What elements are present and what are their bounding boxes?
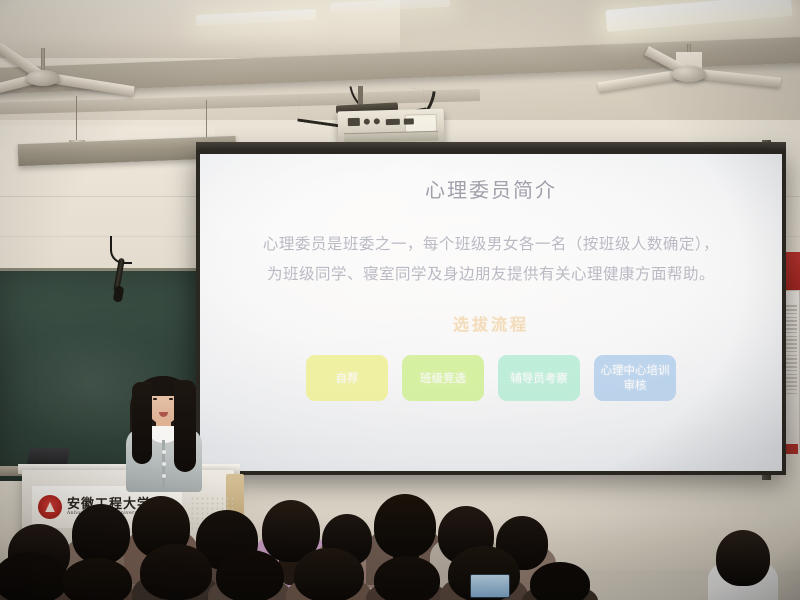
audience-head [530,562,590,600]
fan-hub [26,70,60,86]
audience-head [62,558,132,600]
audience-head [374,494,436,558]
process-step: 自荐 [306,355,388,401]
slide-body-line: 为班级同学、寝室同学及身边朋友提供有关心理健康方面帮助。 [229,259,753,289]
process-step: 心理中心培训审核 [594,355,676,401]
audience-head [0,552,68,600]
presenter [118,370,210,500]
audience-head [716,530,770,586]
slide-body-line: 心理委员是班委之一，每个班级男女各一名（按班级人数确定）， [229,229,753,259]
ceiling-fan-icon [604,44,774,104]
projection-screen: 心理委员简介 心理委员是班委之一，每个班级男女各一名（按班级人数确定）， 为班级… [196,150,786,475]
selection-process-steps: 自荐 班级竞选 辅导员考察 心理中心培训审核 [200,355,782,401]
slide-title: 心理委员简介 [425,174,557,203]
presenter-hair-strand [174,380,196,472]
open-laptop [470,574,510,598]
slide-section-heading: 选拔流程 [453,311,529,335]
audience-head [216,550,284,600]
light-bar-wire [76,96,77,144]
process-step: 辅导员考察 [498,355,580,401]
audience-head [294,548,364,600]
fan-hub [672,66,706,82]
audience [0,486,800,600]
lecture-hall-photo: 心理委员简介 心理委员是班委之一，每个班级男女各一名（按班级人数确定）， 为班级… [0,0,800,600]
slide-body: 心理委员是班委之一，每个班级男女各一名（按班级人数确定）， 为班级同学、寝室同学… [229,229,753,289]
presenter-hair-strand [132,382,152,464]
audience-head [140,544,212,600]
ceiling-fan-icon [0,48,128,108]
audience-head [374,556,440,600]
presentation-slide: 心理委员简介 心理委员是班委之一，每个班级男女各一名（按班级人数确定）， 为班级… [200,154,782,471]
process-step: 班级竞选 [402,355,484,401]
audience-head [72,504,130,564]
